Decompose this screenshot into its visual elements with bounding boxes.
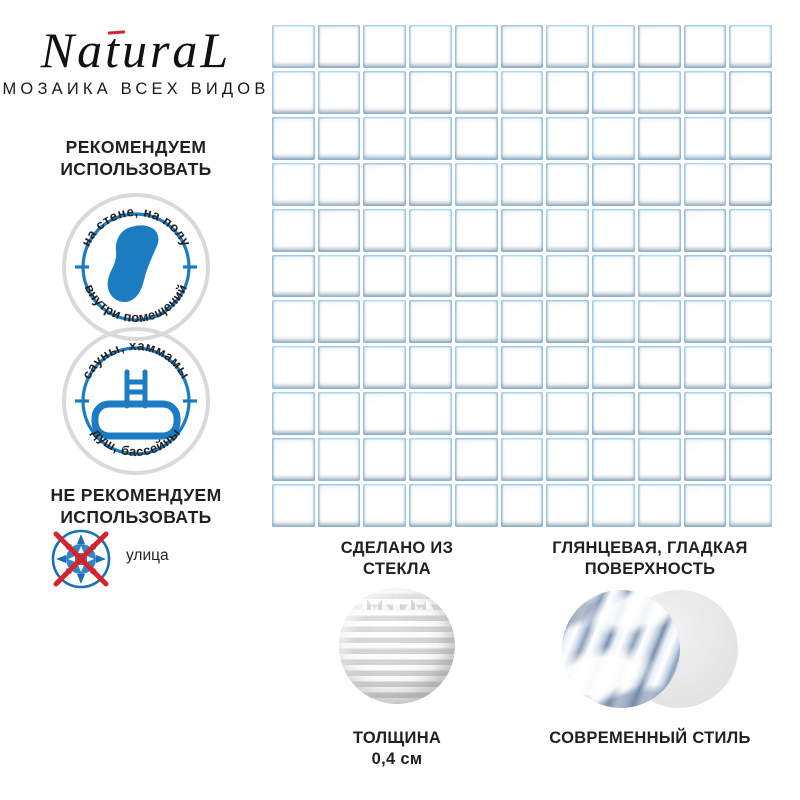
mosaic-tile <box>409 346 452 389</box>
mosaic-tile <box>272 300 315 343</box>
mosaic-tile <box>363 392 406 435</box>
mosaic-tile <box>363 71 406 114</box>
feature-glass-footer: ТОЛЩИНА 0,4 см <box>272 728 522 770</box>
mosaic-tile <box>318 209 361 252</box>
mosaic-tile <box>546 438 589 481</box>
mosaic-tile <box>501 255 544 298</box>
mosaic-tile <box>455 209 498 252</box>
mosaic-tile <box>638 300 681 343</box>
mosaic-tile-sheet <box>272 25 772 527</box>
mosaic-tile <box>318 392 361 435</box>
mosaic-tile <box>638 25 681 68</box>
not-recommended-heading-line1: НЕ РЕКОМЕНДУЕМ <box>0 484 272 506</box>
mosaic-tile <box>455 300 498 343</box>
mosaic-tile <box>729 484 772 527</box>
mosaic-tile <box>363 163 406 206</box>
mosaic-tile <box>684 392 727 435</box>
mosaic-tile <box>409 71 452 114</box>
brand-tagline: МОЗАИКА ВСЕХ ВИДОВ <box>0 80 272 99</box>
feature-glass-title-line2: СТЕКЛА <box>272 559 522 580</box>
mosaic-tile <box>272 346 315 389</box>
mosaic-tile <box>638 346 681 389</box>
not-recommended-item: улица <box>50 528 270 590</box>
mosaic-tile <box>546 71 589 114</box>
mosaic-tile <box>318 163 361 206</box>
mosaic-tile <box>592 71 635 114</box>
mosaic-tile <box>592 163 635 206</box>
mosaic-tile <box>684 71 727 114</box>
mosaic-tile <box>272 392 315 435</box>
mosaic-tile <box>409 255 452 298</box>
mosaic-tile <box>546 117 589 160</box>
badge-indoor-floor-wall: на стене, на полу внутри помещений <box>61 192 211 342</box>
mosaic-tile <box>729 71 772 114</box>
mosaic-tile <box>729 163 772 206</box>
feature-glass-footer-line1: ТОЛЩИНА <box>272 728 522 749</box>
feature-gloss-title: ГЛЯНЦЕВАЯ, ГЛАДКАЯ ПОВЕРХНОСТЬ <box>522 538 778 580</box>
mosaic-tile <box>272 25 315 68</box>
mosaic-tile <box>684 346 727 389</box>
mosaic-tile <box>638 117 681 160</box>
not-recommended-heading-line2: ИСПОЛЬЗОВАТЬ <box>0 506 272 528</box>
mosaic-tile <box>318 346 361 389</box>
marble-swirl <box>562 590 680 708</box>
glass-sphere-highlight <box>360 596 434 610</box>
mosaic-tile <box>409 300 452 343</box>
mosaic-tile <box>363 117 406 160</box>
mosaic-tile <box>501 71 544 114</box>
mosaic-tile <box>684 484 727 527</box>
mosaic-tile <box>638 71 681 114</box>
mosaic-tile <box>729 255 772 298</box>
recommended-heading-line2: ИСПОЛЬЗОВАТЬ <box>0 158 272 180</box>
mosaic-tile <box>638 438 681 481</box>
mosaic-tile <box>272 484 315 527</box>
mosaic-tile <box>501 25 544 68</box>
mosaic-tile <box>318 438 361 481</box>
badge-sauna-top-text: сауны, хаммамы <box>79 338 193 382</box>
badge-indoor-svg: на стене, на полу внутри помещений <box>61 192 211 342</box>
mosaic-tile <box>729 346 772 389</box>
mosaic-tile <box>592 484 635 527</box>
mosaic-tile <box>455 392 498 435</box>
mosaic-tile <box>363 25 406 68</box>
mosaic-tile <box>501 484 544 527</box>
not-recommended-label: улица <box>126 547 169 565</box>
product-infographic: NaturaL МОЗАИКА ВСЕХ ВИДОВ РЕКОМЕНДУЕМ И… <box>0 0 800 800</box>
mosaic-tile <box>729 25 772 68</box>
svg-text:сауны, хаммамы: сауны, хаммамы <box>79 338 193 382</box>
mosaic-tile <box>546 255 589 298</box>
mosaic-tile <box>272 255 315 298</box>
mosaic-tile <box>684 25 727 68</box>
mosaic-tile <box>455 346 498 389</box>
feature-glass-title: СДЕЛАНО ИЗ СТЕКЛА <box>272 538 522 580</box>
mosaic-tile <box>455 117 498 160</box>
brand-name-text: NaturaL <box>41 22 232 78</box>
feature-glass-footer-line2: 0,4 см <box>272 749 522 770</box>
mosaic-tile <box>729 438 772 481</box>
brand-name: NaturaL <box>41 24 232 76</box>
mosaic-tile <box>684 209 727 252</box>
feature-made-of-glass: СДЕЛАНО ИЗ СТЕКЛА ТОЛЩИНА 0,4 см <box>272 538 522 716</box>
badge-sauna-pool: сауны, хаммамы душ, бассейны <box>61 326 211 476</box>
mosaic-tile <box>318 255 361 298</box>
mosaic-tile <box>592 255 635 298</box>
mosaic-tile <box>409 163 452 206</box>
mosaic-tile <box>729 117 772 160</box>
marble-surface-circle <box>562 590 680 708</box>
mosaic-tile <box>272 117 315 160</box>
mosaic-tile <box>272 71 315 114</box>
mosaic-tile <box>363 438 406 481</box>
mosaic-tile <box>318 25 361 68</box>
not-recommended-heading: НЕ РЕКОМЕНДУЕМ ИСПОЛЬЗОВАТЬ <box>0 484 272 529</box>
feature-glossy-surface: ГЛЯНЦЕВАЯ, ГЛАДКАЯ ПОВЕРХНОСТЬ СОВРЕМЕНН… <box>522 538 778 716</box>
mosaic-tile <box>409 117 452 160</box>
mosaic-tile <box>729 300 772 343</box>
mosaic-tile <box>729 209 772 252</box>
mosaic-tile <box>592 438 635 481</box>
mosaic-tile <box>546 484 589 527</box>
svg-text:душ, бассейны: душ, бассейны <box>89 425 183 459</box>
feature-gloss-footer-line1: СОВРЕМЕННЫЙ СТИЛЬ <box>522 728 778 749</box>
mosaic-tile <box>455 25 498 68</box>
brand-logo: NaturaL МОЗАИКА ВСЕХ ВИДОВ <box>0 24 272 99</box>
mosaic-tile <box>592 117 635 160</box>
glass-sphere-icon <box>272 588 522 716</box>
mosaic-tile <box>546 25 589 68</box>
sun-outdoor-icon <box>50 528 112 590</box>
mosaic-tile <box>546 163 589 206</box>
feature-glass-title-line1: СДЕЛАНО ИЗ <box>272 538 522 559</box>
marble-circles-icon <box>522 588 778 716</box>
mosaic-tile <box>501 117 544 160</box>
recommended-heading: РЕКОМЕНДУЕМ ИСПОЛЬЗОВАТЬ <box>0 136 272 181</box>
mosaic-tile <box>318 300 361 343</box>
mosaic-tile <box>684 163 727 206</box>
mosaic-tile <box>363 209 406 252</box>
mosaic-tile <box>363 255 406 298</box>
mosaic-tile <box>546 346 589 389</box>
mosaic-tile <box>318 117 361 160</box>
mosaic-tile <box>409 25 452 68</box>
feature-gloss-title-line1: ГЛЯНЦЕВАЯ, ГЛАДКАЯ <box>522 538 778 559</box>
mosaic-tile <box>592 392 635 435</box>
mosaic-tile <box>501 346 544 389</box>
recommended-heading-line1: РЕКОМЕНДУЕМ <box>0 136 272 158</box>
mosaic-tile <box>592 300 635 343</box>
mosaic-tile <box>501 209 544 252</box>
mosaic-tile <box>363 346 406 389</box>
mosaic-tile <box>592 209 635 252</box>
mosaic-tile <box>272 438 315 481</box>
mosaic-tile <box>684 300 727 343</box>
mosaic-tile <box>409 438 452 481</box>
mosaic-tile <box>501 438 544 481</box>
mosaic-tile <box>501 300 544 343</box>
mosaic-tile <box>501 392 544 435</box>
mosaic-tile <box>729 392 772 435</box>
mosaic-tile <box>409 392 452 435</box>
mosaic-tile <box>318 71 361 114</box>
mosaic-tile <box>501 163 544 206</box>
mosaic-tile <box>592 346 635 389</box>
mosaic-tile <box>546 392 589 435</box>
badge-sauna-svg: сауны, хаммамы душ, бассейны <box>61 326 211 476</box>
mosaic-tile <box>684 438 727 481</box>
mosaic-tile <box>272 209 315 252</box>
mosaic-tile <box>638 392 681 435</box>
mosaic-tile <box>638 255 681 298</box>
mosaic-tile <box>684 117 727 160</box>
mosaic-tile <box>318 484 361 527</box>
mosaic-tile <box>638 163 681 206</box>
glass-sphere-shape <box>339 588 455 704</box>
badge-sauna-bottom-text: душ, бассейны <box>89 425 183 459</box>
feature-gloss-title-line2: ПОВЕРХНОСТЬ <box>522 559 778 580</box>
mosaic-tile <box>455 255 498 298</box>
feature-gloss-footer: СОВРЕМЕННЫЙ СТИЛЬ <box>522 728 778 749</box>
mosaic-tile <box>455 71 498 114</box>
surface-sample-pair <box>562 590 738 712</box>
mosaic-tile <box>455 163 498 206</box>
mosaic-tile <box>455 438 498 481</box>
mosaic-tile <box>546 300 589 343</box>
mosaic-tile <box>546 209 589 252</box>
mosaic-tile <box>684 255 727 298</box>
mosaic-tile <box>272 163 315 206</box>
mosaic-tile <box>455 484 498 527</box>
mosaic-tile <box>409 484 452 527</box>
mosaic-tile <box>363 484 406 527</box>
mosaic-tile <box>638 484 681 527</box>
mosaic-tile <box>363 300 406 343</box>
mosaic-tile <box>638 209 681 252</box>
mosaic-tile <box>409 209 452 252</box>
mosaic-tile <box>592 25 635 68</box>
